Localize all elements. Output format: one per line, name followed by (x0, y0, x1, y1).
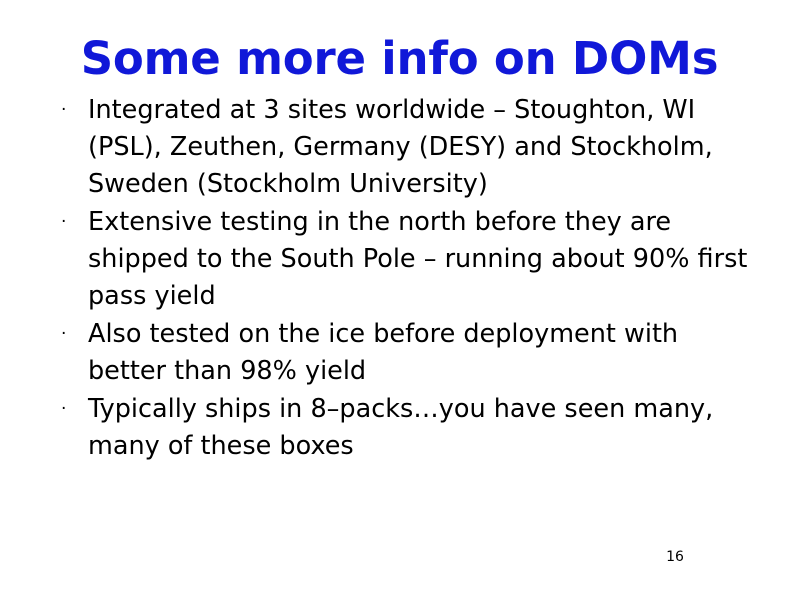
list-item-text: Extensive testing in the north before th… (88, 204, 762, 315)
list-item: · Typically ships in 8–packs…you have se… (52, 391, 762, 465)
bullet-list: · Integrated at 3 sites worldwide – Stou… (52, 92, 762, 466)
list-item: · Also tested on the ice before deployme… (52, 316, 762, 390)
list-item: · Integrated at 3 sites worldwide – Stou… (52, 92, 762, 203)
list-item: · Extensive testing in the north before … (52, 204, 762, 315)
bullet-dot-icon: · (61, 316, 75, 353)
list-item-text: Integrated at 3 sites worldwide – Stough… (88, 92, 762, 203)
bullet-dot-icon: · (61, 92, 75, 129)
list-item-text: Typically ships in 8–packs…you have seen… (88, 391, 762, 465)
page-number: 16 (655, 548, 695, 566)
slide-canvas: Some more info on DOMs · Integrated at 3… (0, 0, 799, 600)
page-title: Some more info on DOMs (0, 33, 799, 85)
bullet-dot-icon: · (61, 204, 75, 241)
bullet-dot-icon: · (61, 391, 75, 428)
list-item-text: Also tested on the ice before deployment… (88, 316, 762, 390)
